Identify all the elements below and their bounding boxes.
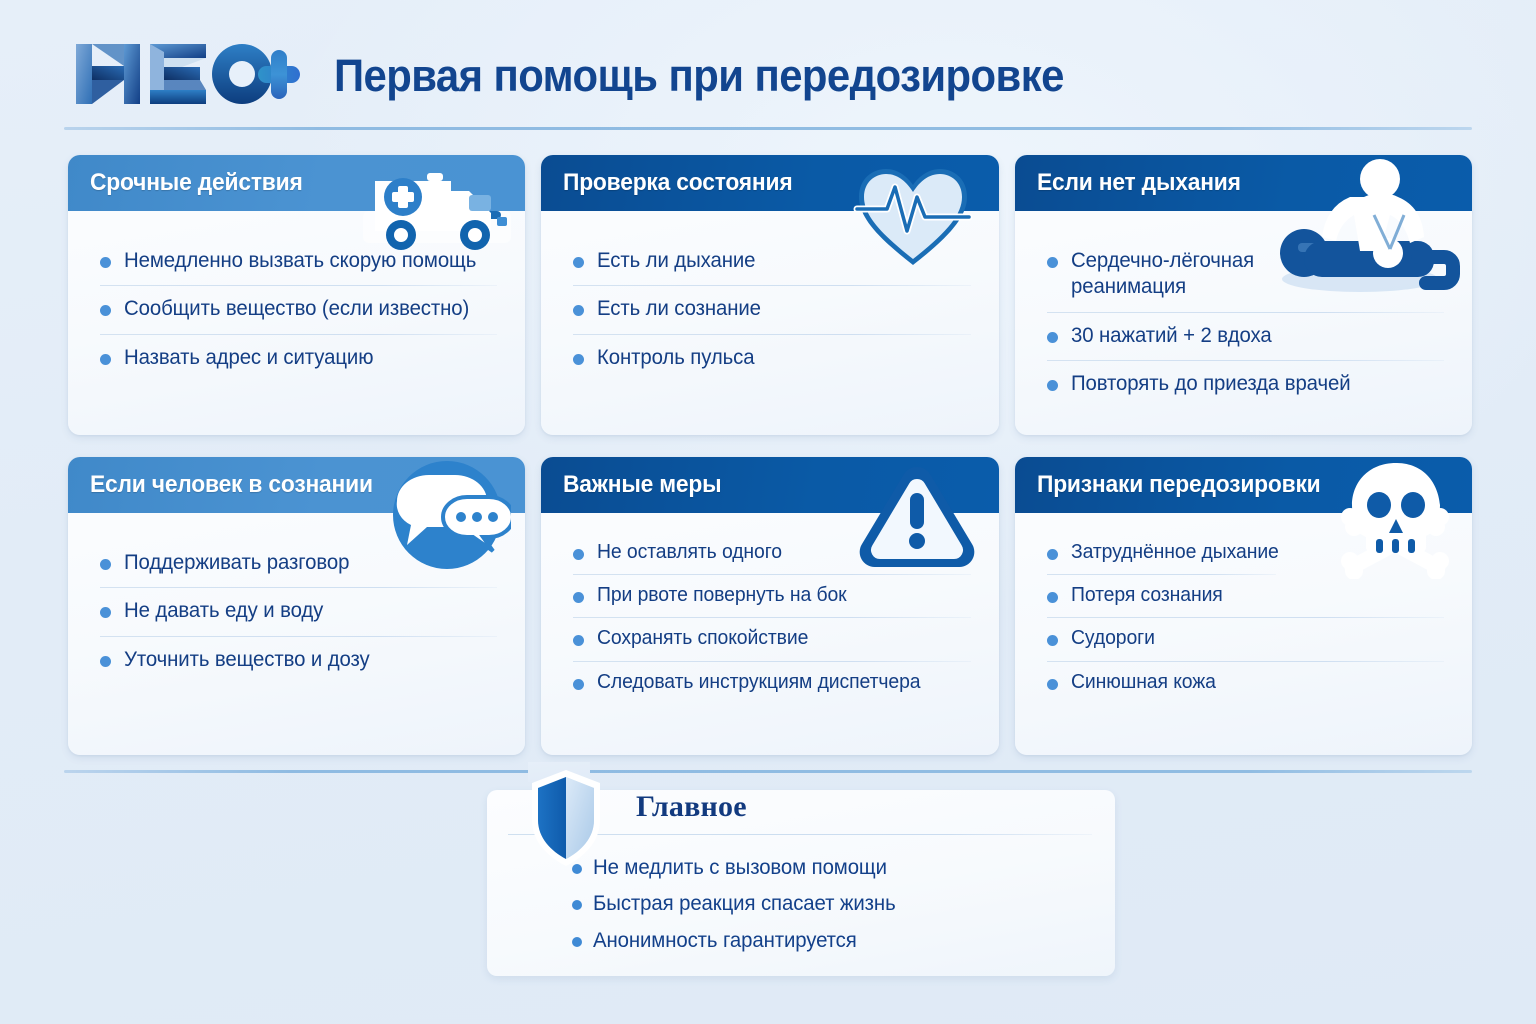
list-item[interactable]: Уточнить вещество и дозу xyxy=(90,636,503,684)
bullet-dot-icon xyxy=(1047,332,1058,343)
list-item[interactable]: Не давать еду и воду xyxy=(90,587,503,635)
neo-plus-logo[interactable] xyxy=(64,37,300,111)
list-item-label: Есть ли сознание xyxy=(597,296,761,322)
list-item[interactable]: Повторять до приезда врачей xyxy=(1037,360,1450,408)
list-item[interactable]: Следовать инструкциям диспетчера xyxy=(563,661,976,704)
list-item-label: Сердечно-лёгочная реанимация xyxy=(1071,248,1294,301)
list-item-label: 30 нажатий + 2 вдоха xyxy=(1071,323,1272,349)
list-item-label: Не давать еду и воду xyxy=(124,598,323,624)
card-body: Немедленно вызвать скорую помощь Сообщит… xyxy=(68,211,525,435)
list-item-label: Немедленно вызвать скорую помощь xyxy=(124,248,476,274)
card-title: Срочные действия xyxy=(90,169,303,197)
bullet-dot-icon xyxy=(1047,380,1058,391)
list-item-label: Назвать адрес и ситуацию xyxy=(124,345,373,371)
list-item[interactable]: Назвать адрес и ситуацию xyxy=(90,334,503,382)
list-item[interactable]: Не оставлять одного xyxy=(563,531,976,574)
card-body: Затруднённое дыхание Потеря сознания Суд… xyxy=(1015,513,1472,755)
bullet-dot-icon xyxy=(572,937,582,947)
bullet-dot-icon xyxy=(572,900,582,910)
list-item[interactable]: Синюшная кожа xyxy=(1037,661,1450,704)
bullet-dot-icon xyxy=(573,305,584,316)
page-title: Первая помощь при передозировке xyxy=(334,51,1064,98)
list-item[interactable]: Сердечно-лёгочная реанимация xyxy=(1037,237,1450,312)
list-item[interactable]: Есть ли дыхание xyxy=(563,237,976,285)
card-title: Если человек в сознании xyxy=(90,471,373,499)
card-body: Не оставлять одного При рвоте повернуть … xyxy=(541,513,998,755)
bullet-dot-icon xyxy=(100,656,111,667)
card-body: Поддерживать разговор Не давать еду и во… xyxy=(68,513,525,755)
list-item[interactable]: Есть ли сознание xyxy=(563,285,976,333)
list-item-label: Сообщить вещество (если известно) xyxy=(124,296,469,322)
list-item[interactable]: Сохранять спокойствие xyxy=(563,617,976,660)
list-item-label: Потеря сознания xyxy=(1071,583,1223,608)
icon-spacer xyxy=(90,531,503,539)
list-item[interactable]: Анонимность гарантируется xyxy=(572,923,1092,959)
footer-list: Не медлить с вызовом помощи Быстрая реак… xyxy=(572,850,1092,959)
card-title: Признаки передозировки xyxy=(1037,471,1321,499)
bullet-dot-icon xyxy=(573,354,584,365)
card-body: Есть ли дыхание Есть ли сознание Контрол… xyxy=(541,211,998,435)
card-body: Сердечно-лёгочная реанимация 30 нажатий … xyxy=(1015,211,1472,435)
card-header: Срочные действия xyxy=(68,155,525,211)
card-title: Если нет дыхания xyxy=(1037,169,1241,197)
card-important-measures[interactable]: Важные меры Не оставлять одного При рвот… xyxy=(541,457,998,755)
icon-spacer xyxy=(563,229,976,237)
list-item[interactable]: Судороги xyxy=(1037,617,1450,660)
icon-spacer xyxy=(1037,229,1450,237)
list-item-label: Быстрая реакция спасает жизнь xyxy=(593,891,896,917)
list-item[interactable]: Затруднённое дыхание xyxy=(1037,531,1450,574)
list-item-label: Анонимность гарантируется xyxy=(593,928,857,954)
cards-grid: Срочные действия Немедленно вызвать xyxy=(68,155,1472,755)
bullet-dot-icon xyxy=(573,679,584,690)
icon-spacer xyxy=(90,229,503,237)
bullet-dot-icon xyxy=(1047,635,1058,646)
card-header: Важные меры xyxy=(541,457,998,513)
list-item[interactable]: Потеря сознания xyxy=(1037,574,1450,617)
card-overdose-signs[interactable]: Признаки передозировки xyxy=(1015,457,1472,755)
shield-icon xyxy=(528,768,604,868)
card-title: Проверка состояния xyxy=(563,169,792,197)
list-item-label: Не оставлять одного xyxy=(597,540,782,565)
card-header: Признаки передозировки xyxy=(1015,457,1472,513)
card-title: Важные меры xyxy=(563,471,721,499)
list-item-label: Есть ли дыхание xyxy=(597,248,755,274)
list-item[interactable]: Не медлить с вызовом помощи xyxy=(572,850,1092,886)
list-item[interactable]: 30 нажатий + 2 вдоха xyxy=(1037,312,1450,360)
list-item-label: Уточнить вещество и дозу xyxy=(124,647,370,673)
list-item[interactable]: Контроль пульса xyxy=(563,334,976,382)
page-header: Первая помощь при передозировке xyxy=(64,18,1472,130)
list-item-label: Следовать инструкциям диспетчера xyxy=(597,670,920,695)
bullet-dot-icon xyxy=(100,607,111,618)
bullet-dot-icon xyxy=(100,559,111,570)
card-header: Если человек в сознании xyxy=(68,457,525,513)
list-item[interactable]: Немедленно вызвать скорую помощь xyxy=(90,237,503,285)
bullet-dot-icon xyxy=(573,592,584,603)
list-item-label: Не медлить с вызовом помощи xyxy=(593,855,887,881)
header-divider xyxy=(64,127,1472,130)
card-no-breathing[interactable]: Если нет дыхания Сердечно-лёгочная р xyxy=(1015,155,1472,435)
card-urgent-actions[interactable]: Срочные действия Немедленно вызвать xyxy=(68,155,525,435)
footer-divider xyxy=(64,770,1472,773)
bullet-dot-icon xyxy=(1047,549,1058,560)
bullet-dot-icon xyxy=(100,354,111,365)
bullet-dot-icon xyxy=(100,305,111,316)
list-item[interactable]: Поддерживать разговор xyxy=(90,539,503,587)
card-header: Если нет дыхания xyxy=(1015,155,1472,211)
card-condition-check[interactable]: Проверка состояния Есть ли дыхание Есть … xyxy=(541,155,998,435)
list-item-label: Повторять до приезда врачей xyxy=(1071,371,1351,397)
bullet-dot-icon xyxy=(573,257,584,268)
footer-title: Главное xyxy=(636,790,747,824)
card-conscious-person[interactable]: Если человек в сознании Поддерживать раз… xyxy=(68,457,525,755)
list-item-label: Затруднённое дыхание xyxy=(1071,540,1279,565)
bullet-dot-icon xyxy=(1047,679,1058,690)
list-item-label: Сохранять спокойствие xyxy=(597,626,808,651)
bullet-dot-icon xyxy=(100,257,111,268)
bullet-dot-icon xyxy=(573,635,584,646)
bullet-dot-icon xyxy=(1047,592,1058,603)
list-item[interactable]: Быстрая реакция спасает жизнь xyxy=(572,886,1092,922)
list-item-label: Контроль пульса xyxy=(597,345,754,371)
list-item-label: При рвоте повернуть на бок xyxy=(597,583,847,608)
list-item[interactable]: Сообщить вещество (если известно) xyxy=(90,285,503,333)
bullet-dot-icon xyxy=(1047,257,1058,268)
list-item-label: Судороги xyxy=(1071,626,1155,651)
list-item-label: Синюшная кожа xyxy=(1071,670,1216,695)
bullet-dot-icon xyxy=(573,549,584,560)
list-item-label: Поддерживать разговор xyxy=(124,550,349,576)
card-header: Проверка состояния xyxy=(541,155,998,211)
list-item[interactable]: При рвоте повернуть на бок xyxy=(563,574,976,617)
